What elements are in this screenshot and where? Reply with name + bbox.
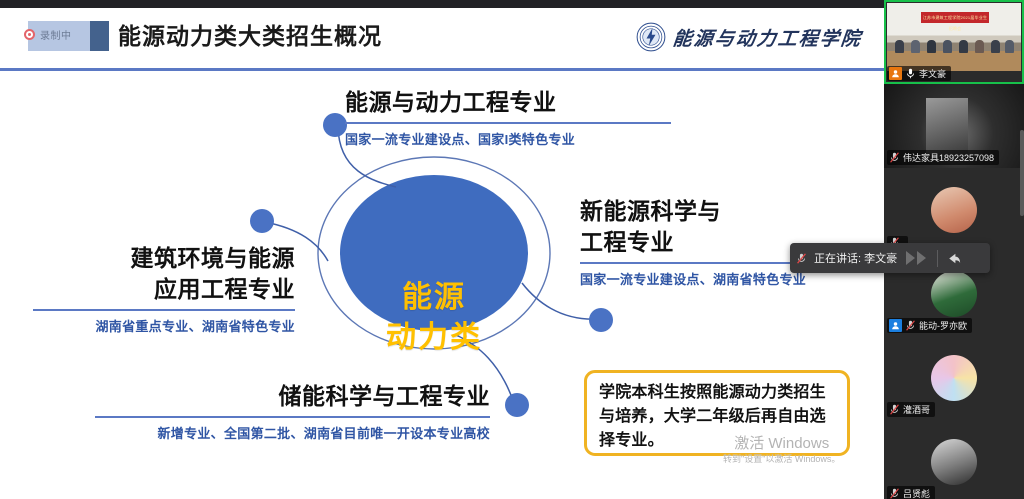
participant-tile-2[interactable] <box>884 168 1024 252</box>
node-subtitle: 湖南省重点专业、湖南省特色专业 <box>33 316 295 335</box>
rail-scrollbar[interactable] <box>1020 130 1024 216</box>
microphone-muted-icon <box>889 488 900 499</box>
node-title-line-2: 应用工程专业 <box>33 274 295 305</box>
recording-label: 录制中 <box>40 27 72 42</box>
participant-namebar: 灌酒哥 <box>887 402 935 417</box>
program-node-new-energy-science: 新能源科学与 工程专业 国家一流专业建设点、湖南省特色专业 <box>580 196 854 288</box>
program-node-energy-storage: 储能科学与工程专业 新增专业、全国第二批、湖南省目前唯一开设本专业高校 <box>95 381 490 442</box>
record-dot-icon <box>24 29 35 40</box>
participant-namebar: 吕贤彪 <box>887 486 935 499</box>
back-arrow-icon[interactable] <box>945 250 962 267</box>
room-banner-text: 江苏市建筑工程学院2021届毕业生招聘会 <box>921 12 989 34</box>
page-title: 能源动力类大类招生概况 <box>118 22 382 50</box>
center-line-2: 动力类 <box>374 318 494 358</box>
participant-namebar: 李文豪 <box>887 66 951 81</box>
window-top-strip <box>0 0 884 8</box>
microphone-muted-icon <box>889 152 900 163</box>
microphone-muted-icon <box>796 253 807 264</box>
program-node-building-environment: 建筑环境与能源 应用工程专业 湖南省重点专业、湖南省特色专业 <box>33 243 295 335</box>
avatar <box>931 187 977 233</box>
center-category-label: 能源 动力类 <box>374 278 494 358</box>
participant-namebar: 能动-罗亦欧 <box>887 318 972 333</box>
participant-name: 伟达家具18923257098 <box>903 151 994 164</box>
university-seal-icon <box>636 22 666 52</box>
node-subtitle: 新增专业、全国第二批、湖南省目前唯一开设本专业高校 <box>95 423 490 442</box>
participant-name: 李文豪 <box>919 67 946 80</box>
meeting-room-video: 江苏市建筑工程学院2021届毕业生招聘会 <box>887 3 1021 71</box>
microphone-muted-icon <box>905 320 916 331</box>
participant-name: 吕贤彪 <box>903 487 930 499</box>
center-line-1: 能源 <box>374 278 494 318</box>
participant-namebar: 伟达家具18923257098 <box>887 150 999 165</box>
institution-name: 能源与动力工程学院 <box>672 24 864 51</box>
microphone-icon <box>905 68 916 79</box>
node-underline <box>95 416 490 418</box>
slide-header: 录制中 能源动力类大类招生概况 能源与动力工程学院 <box>0 8 884 60</box>
header-accent-block-dark <box>90 21 109 51</box>
participant-tile-0[interactable]: 江苏市建筑工程学院2021届毕业生招聘会 <box>884 0 1024 84</box>
speaking-label: 正在讲话: 李文豪 <box>814 250 897 266</box>
active-speaker-toolbar[interactable]: 正在讲话: 李文豪 <box>790 243 990 273</box>
pinned-user-icon <box>889 67 902 80</box>
pinned-user-icon <box>889 319 902 332</box>
institution-brand: 能源与动力工程学院 <box>636 22 862 52</box>
collapse-rail-chevrons-icon[interactable] <box>906 251 926 265</box>
meeting-screen-share-window: 录制中 能源动力类大类招生概况 能源与动力工程学院 <box>0 0 1024 499</box>
room-banner: 江苏市建筑工程学院2021届毕业生招聘会 <box>921 12 989 23</box>
avatar <box>931 271 977 317</box>
participant-name: 灌酒哥 <box>903 403 930 416</box>
node-title-line-1: 建筑环境与能源 <box>33 243 295 274</box>
callout-text: 学院本科生按照能源动力类招生与培养，大学二年级后再自由选择专业。 <box>599 381 836 453</box>
node-title: 储能科学与工程专业 <box>95 381 490 412</box>
program-node-energy-power-engineering: 能源与动力工程专业 国家一流专业建设点、国家I类特色专业 <box>345 87 671 148</box>
participant-tile-1[interactable]: 伟达家具18923257098 <box>884 84 1024 168</box>
node-underline <box>33 309 295 311</box>
microphone-muted-icon <box>889 404 900 415</box>
node-underline <box>345 122 671 124</box>
avatar <box>931 439 977 485</box>
recording-indicator: 录制中 <box>24 22 72 46</box>
shared-slide: 录制中 能源动力类大类招生概况 能源与动力工程学院 <box>0 0 884 499</box>
node-title-line-1: 新能源科学与 <box>580 196 854 227</box>
participant-tile-5[interactable]: 吕贤彪 <box>884 420 1024 499</box>
admission-policy-callout: 学院本科生按照能源动力类招生与培养，大学二年级后再自由选择专业。 <box>584 370 850 456</box>
toolbar-divider <box>937 250 938 267</box>
participant-name: 能动-罗亦欧 <box>919 319 967 332</box>
node-title: 能源与动力工程专业 <box>345 87 671 118</box>
avatar <box>931 355 977 401</box>
participant-tile-4[interactable]: 灌酒哥 <box>884 336 1024 420</box>
program-overview-diagram: 能源 动力类 能源与动力工程专业 国家一流专业建设点、国家I类特色专业 新能源科… <box>0 63 884 499</box>
node-subtitle: 国家一流专业建设点、国家I类特色专业 <box>345 129 671 148</box>
